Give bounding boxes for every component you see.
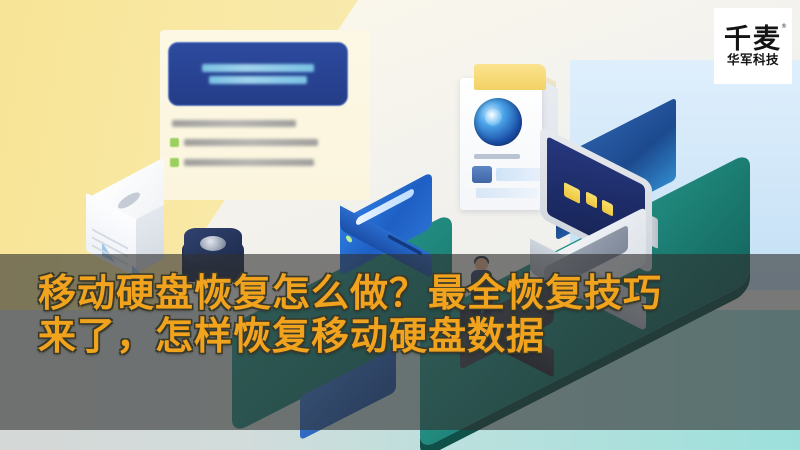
brand-logo: 千麦® 华军科技 xyxy=(714,8,792,84)
brand-logo-mark: 千麦® xyxy=(724,26,782,53)
list-item xyxy=(170,138,364,147)
blurred-text-line xyxy=(209,76,307,84)
bullet-icon xyxy=(170,158,179,167)
cover-image: 千麦® 华军科技 移动硬盘恢复怎么做？最全恢复技巧来了，怎样恢复移动硬盘数据 xyxy=(0,0,800,450)
info-panel-list xyxy=(168,120,364,167)
blurred-text-line xyxy=(184,159,314,166)
blurred-text-line xyxy=(184,139,318,146)
list-item xyxy=(170,158,364,167)
bullet-icon xyxy=(170,138,179,147)
blurred-text-line xyxy=(172,120,296,127)
registered-trademark-icon: ® xyxy=(781,24,789,30)
brand-logo-subtitle: 华军科技 xyxy=(727,54,779,67)
lens-icon xyxy=(474,98,522,146)
blurred-text-line xyxy=(202,64,314,72)
list-item xyxy=(170,120,364,127)
info-panel xyxy=(168,42,364,178)
page-title: 移动硬盘恢复怎么做？最全恢复技巧来了，怎样恢复移动硬盘数据 xyxy=(38,272,678,358)
info-panel-headline-card xyxy=(168,42,348,106)
